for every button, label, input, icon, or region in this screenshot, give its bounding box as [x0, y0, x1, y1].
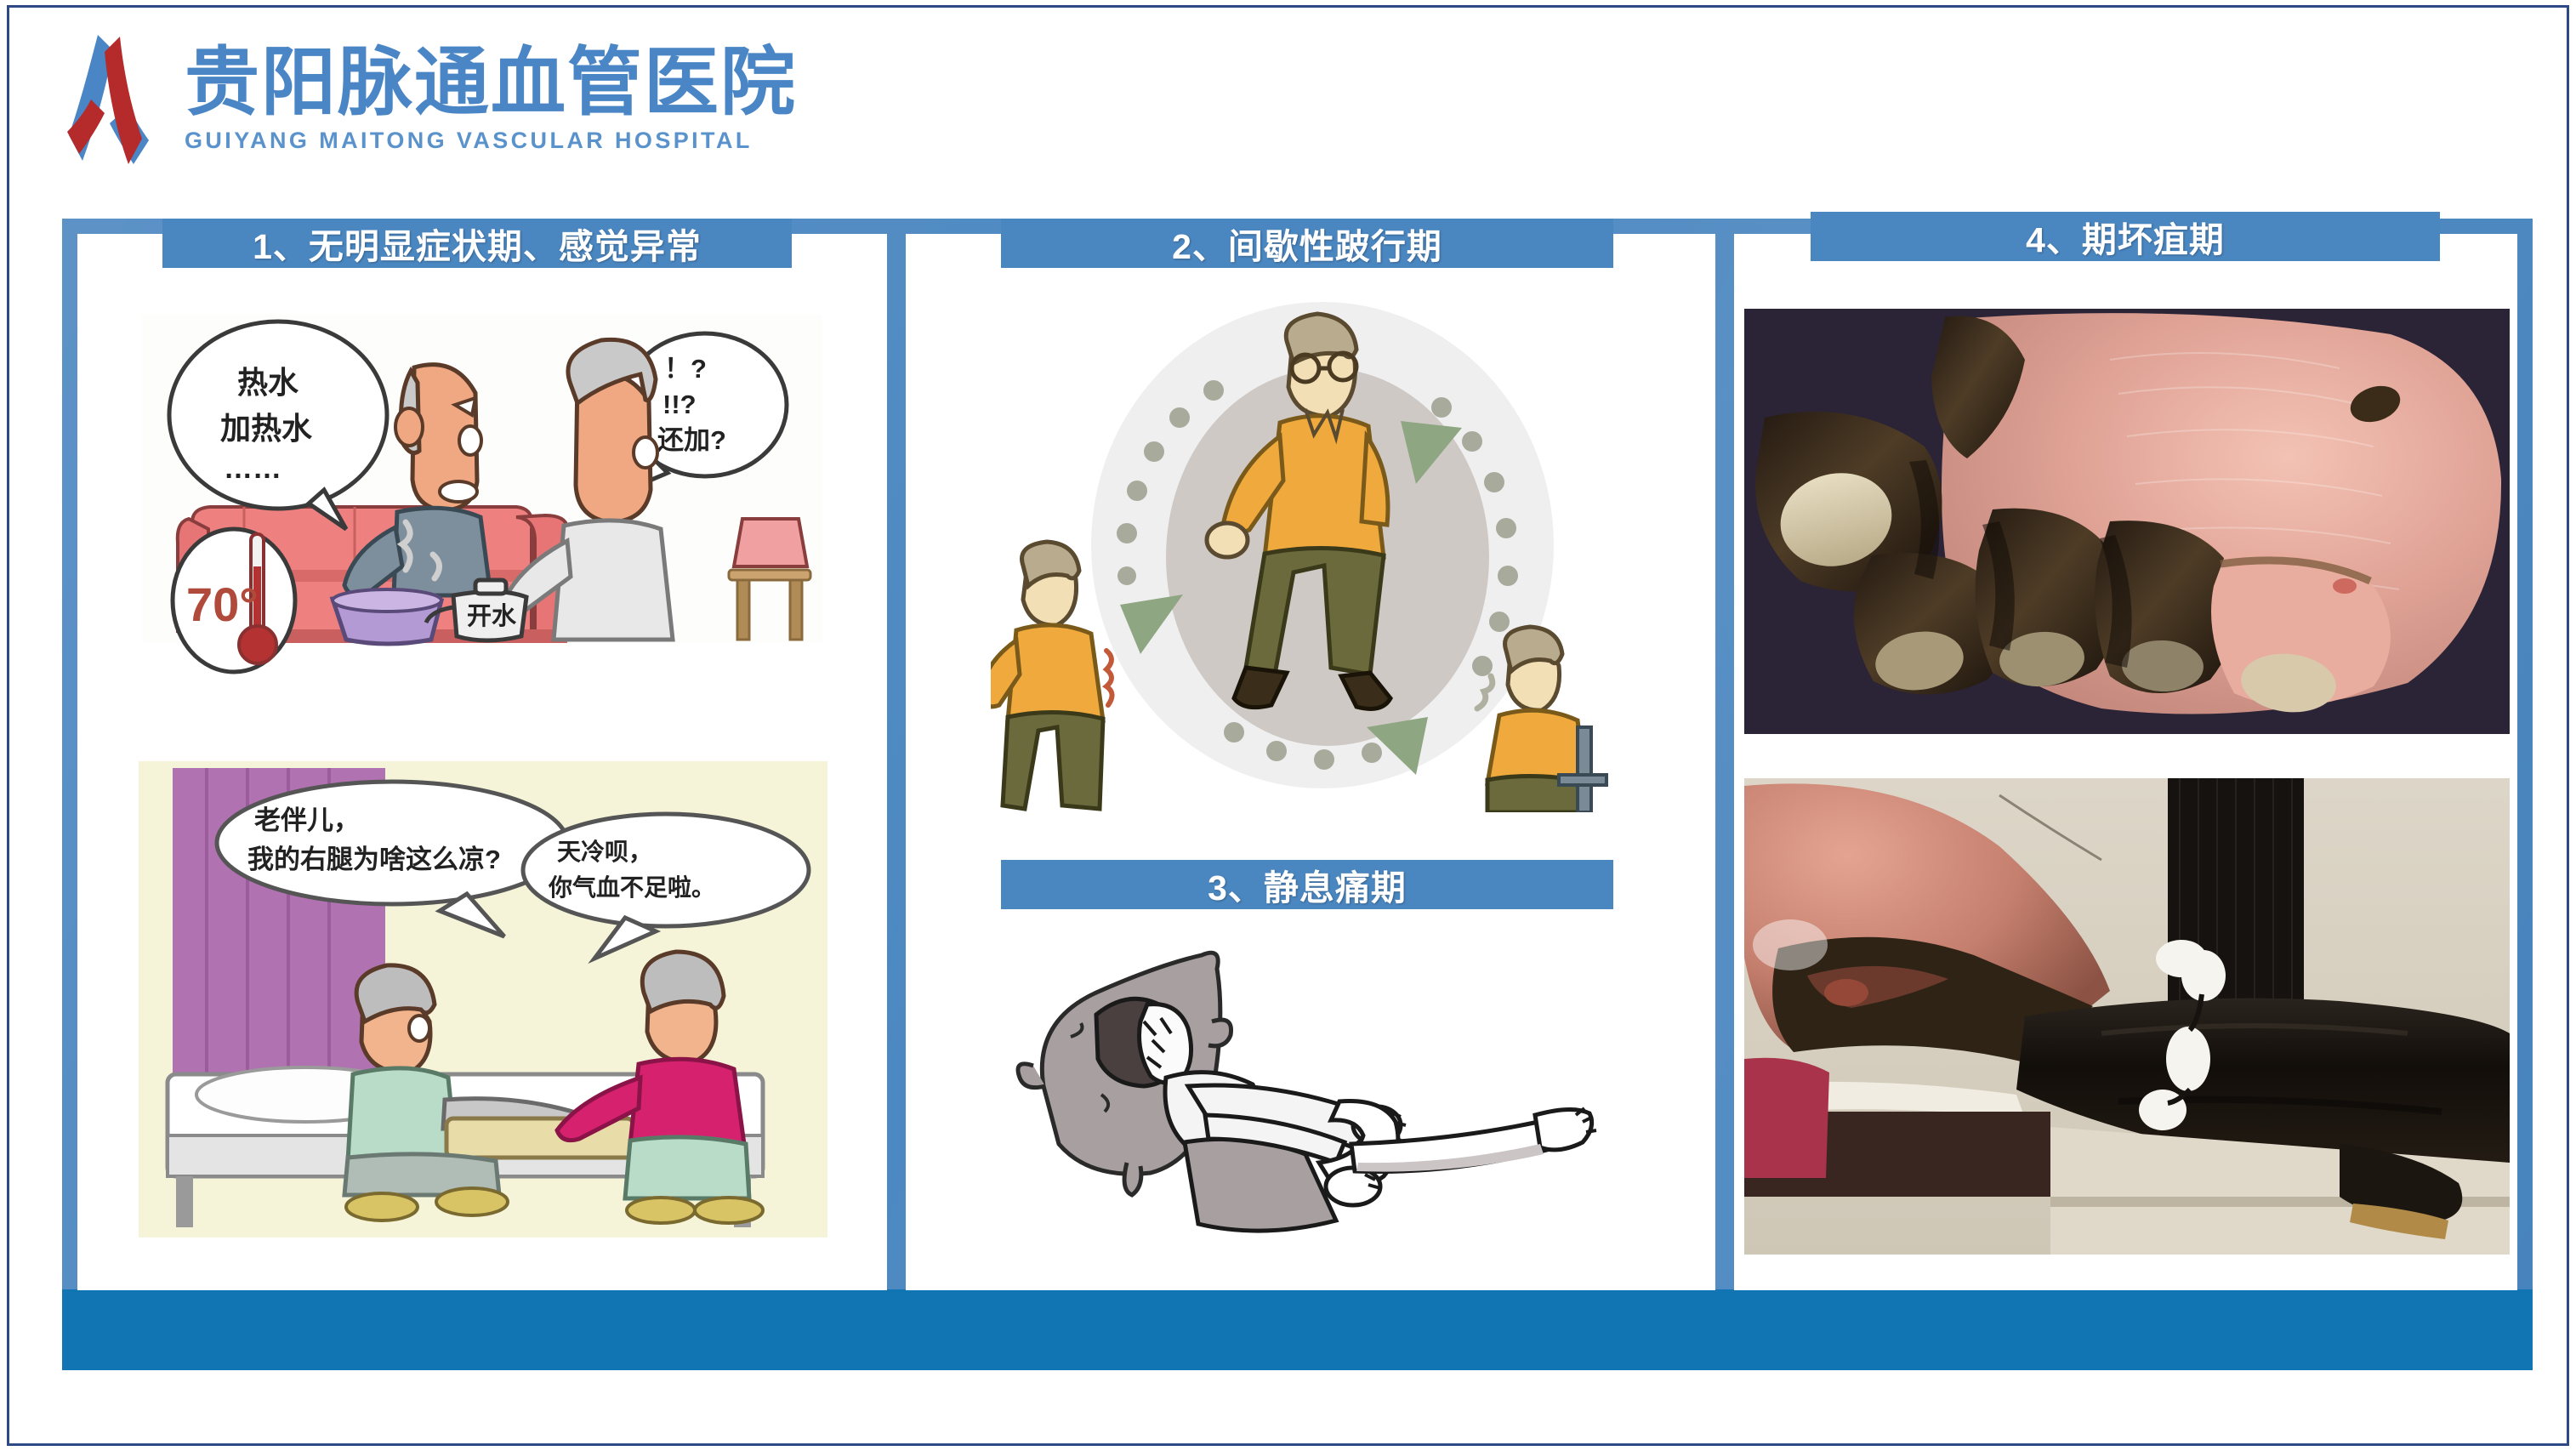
section-title-stage-1: 1、无明显症状期、感觉异常	[162, 219, 792, 268]
photo-leg-gangrene	[1744, 778, 2510, 1255]
page-frame: 贵阳脉通血管医院 GUIYANG MAITONG VASCULAR HOSPIT…	[7, 5, 2569, 1446]
stage-column-2: 2、间歇性跛行期	[906, 234, 1715, 1290]
brand-text: 贵阳脉通血管医院 GUIYANG MAITONG VASCULAR HOSPIT…	[185, 44, 797, 154]
speech-surprise-line1: ！?	[664, 354, 707, 384]
hospital-logo-icon	[60, 31, 162, 168]
illustration-cold-leg: 老伴儿， 我的右腿为啥这么凉? 天冷呗， 你气血不足啦。	[139, 761, 827, 1238]
brand-header: 贵阳脉通血管医院 GUIYANG MAITONG VASCULAR HOSPIT…	[60, 16, 1038, 182]
board-bottom-bar	[62, 1289, 2533, 1370]
content-board: 1、无明显症状期、感觉异常	[62, 219, 2533, 1370]
hospital-name-en: GUIYANG MAITONG VASCULAR HOSPITAL	[185, 128, 797, 154]
illustration-rest-pain	[1008, 940, 1620, 1263]
speech-reply-line2: 你气血不足啦。	[548, 873, 715, 901]
stage-column-3: 4、期坏疽期	[1734, 234, 2517, 1290]
speech-surprise-line3: 还加?	[657, 425, 726, 455]
photo-toe-gangrene	[1744, 309, 2510, 734]
speech-hot-water-line2: 加热水	[220, 411, 313, 446]
section-title-stage-2: 2、间歇性跛行期	[1001, 219, 1613, 268]
speech-hot-water-line1: 热水	[237, 365, 299, 400]
hospital-name-cn: 贵阳脉通血管医院	[185, 44, 797, 121]
stage-column-1: 1、无明显症状期、感觉异常	[77, 234, 887, 1290]
kettle-label: 开水	[467, 602, 517, 630]
illustration-walking	[991, 302, 1637, 812]
stage-columns: 1、无明显症状期、感觉异常	[77, 234, 2517, 1290]
section-title-stage-4: 4、期坏疽期	[1811, 212, 2440, 261]
speech-cold-leg-line1: 老伴儿，	[254, 805, 360, 835]
speech-hot-water-line3: ……	[224, 452, 281, 485]
speech-reply-line1: 天冷呗，	[557, 839, 652, 865]
thermometer-reading: 70°	[186, 578, 259, 631]
speech-cold-leg-line2: 我的右腿为啥这么凉?	[247, 845, 501, 874]
section-title-stage-3: 3、静息痛期	[1001, 860, 1613, 909]
illustration-hot-water: 热水 加热水 …… ！? !!? 还加?	[142, 315, 822, 714]
speech-surprise-line2: !!?	[662, 390, 697, 419]
